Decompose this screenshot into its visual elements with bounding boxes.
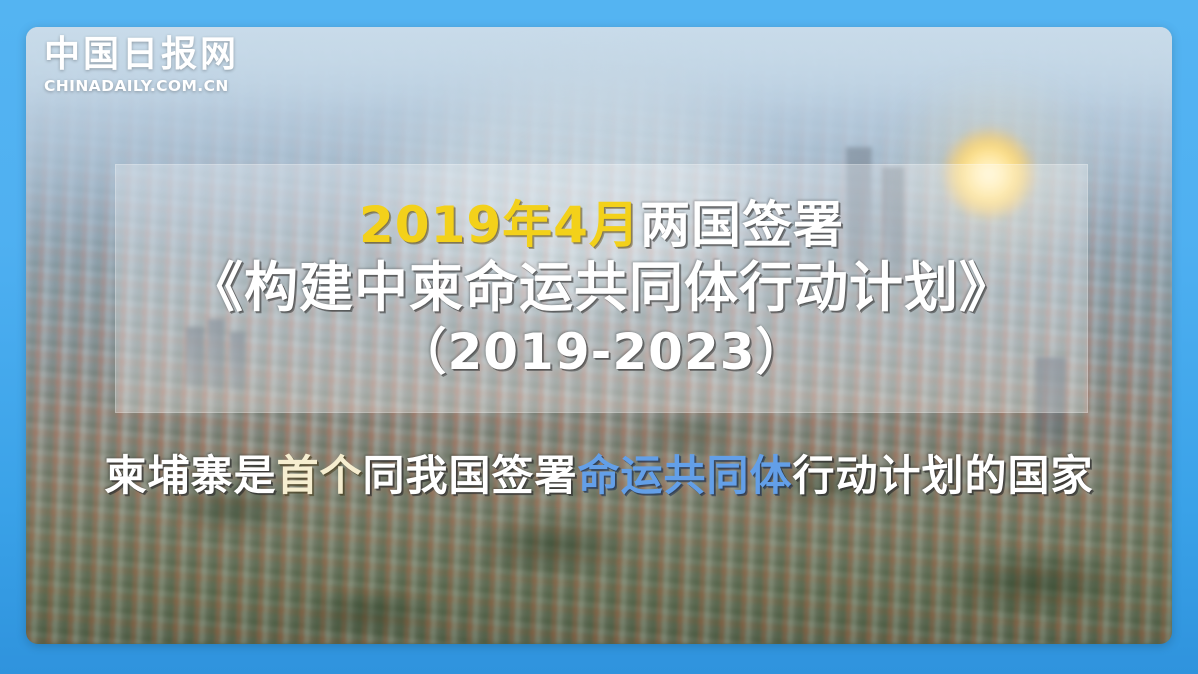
title-line-2: 《构建中柬命运共同体行动计划》 xyxy=(189,255,1014,321)
title-line-1-rest: 两国签署 xyxy=(640,196,844,254)
title-line-3: （2019-2023） xyxy=(396,321,806,383)
caption-text: 柬埔寨是首个同我国签署命运共同体行动计划的国家 xyxy=(0,448,1198,504)
title-date-accent: 2019年4月 xyxy=(359,196,640,254)
caption-segment-1: 柬埔寨是 xyxy=(104,451,276,500)
caption-segment-first-accent: 首个 xyxy=(276,451,362,500)
caption-segment-3: 同我国签署 xyxy=(362,451,577,500)
chinadaily-logo[interactable]: 中国日报网 CHINADAILY.COM.CN xyxy=(44,36,240,95)
logo-english-text: CHINADAILY.COM.CN xyxy=(44,77,240,95)
title-line-1: 2019年4月两国签署 xyxy=(359,195,844,255)
title-panel: 2019年4月两国签署 《构建中柬命运共同体行动计划》 （2019-2023） xyxy=(115,164,1088,413)
infographic-canvas: 中国日报网 CHINADAILY.COM.CN 2019年4月两国签署 《构建中… xyxy=(0,0,1198,674)
caption-segment-community-accent: 命运共同体 xyxy=(578,451,793,500)
caption-segment-5: 行动计划的国家 xyxy=(793,451,1094,500)
logo-chinese-text: 中国日报网 xyxy=(44,36,240,74)
